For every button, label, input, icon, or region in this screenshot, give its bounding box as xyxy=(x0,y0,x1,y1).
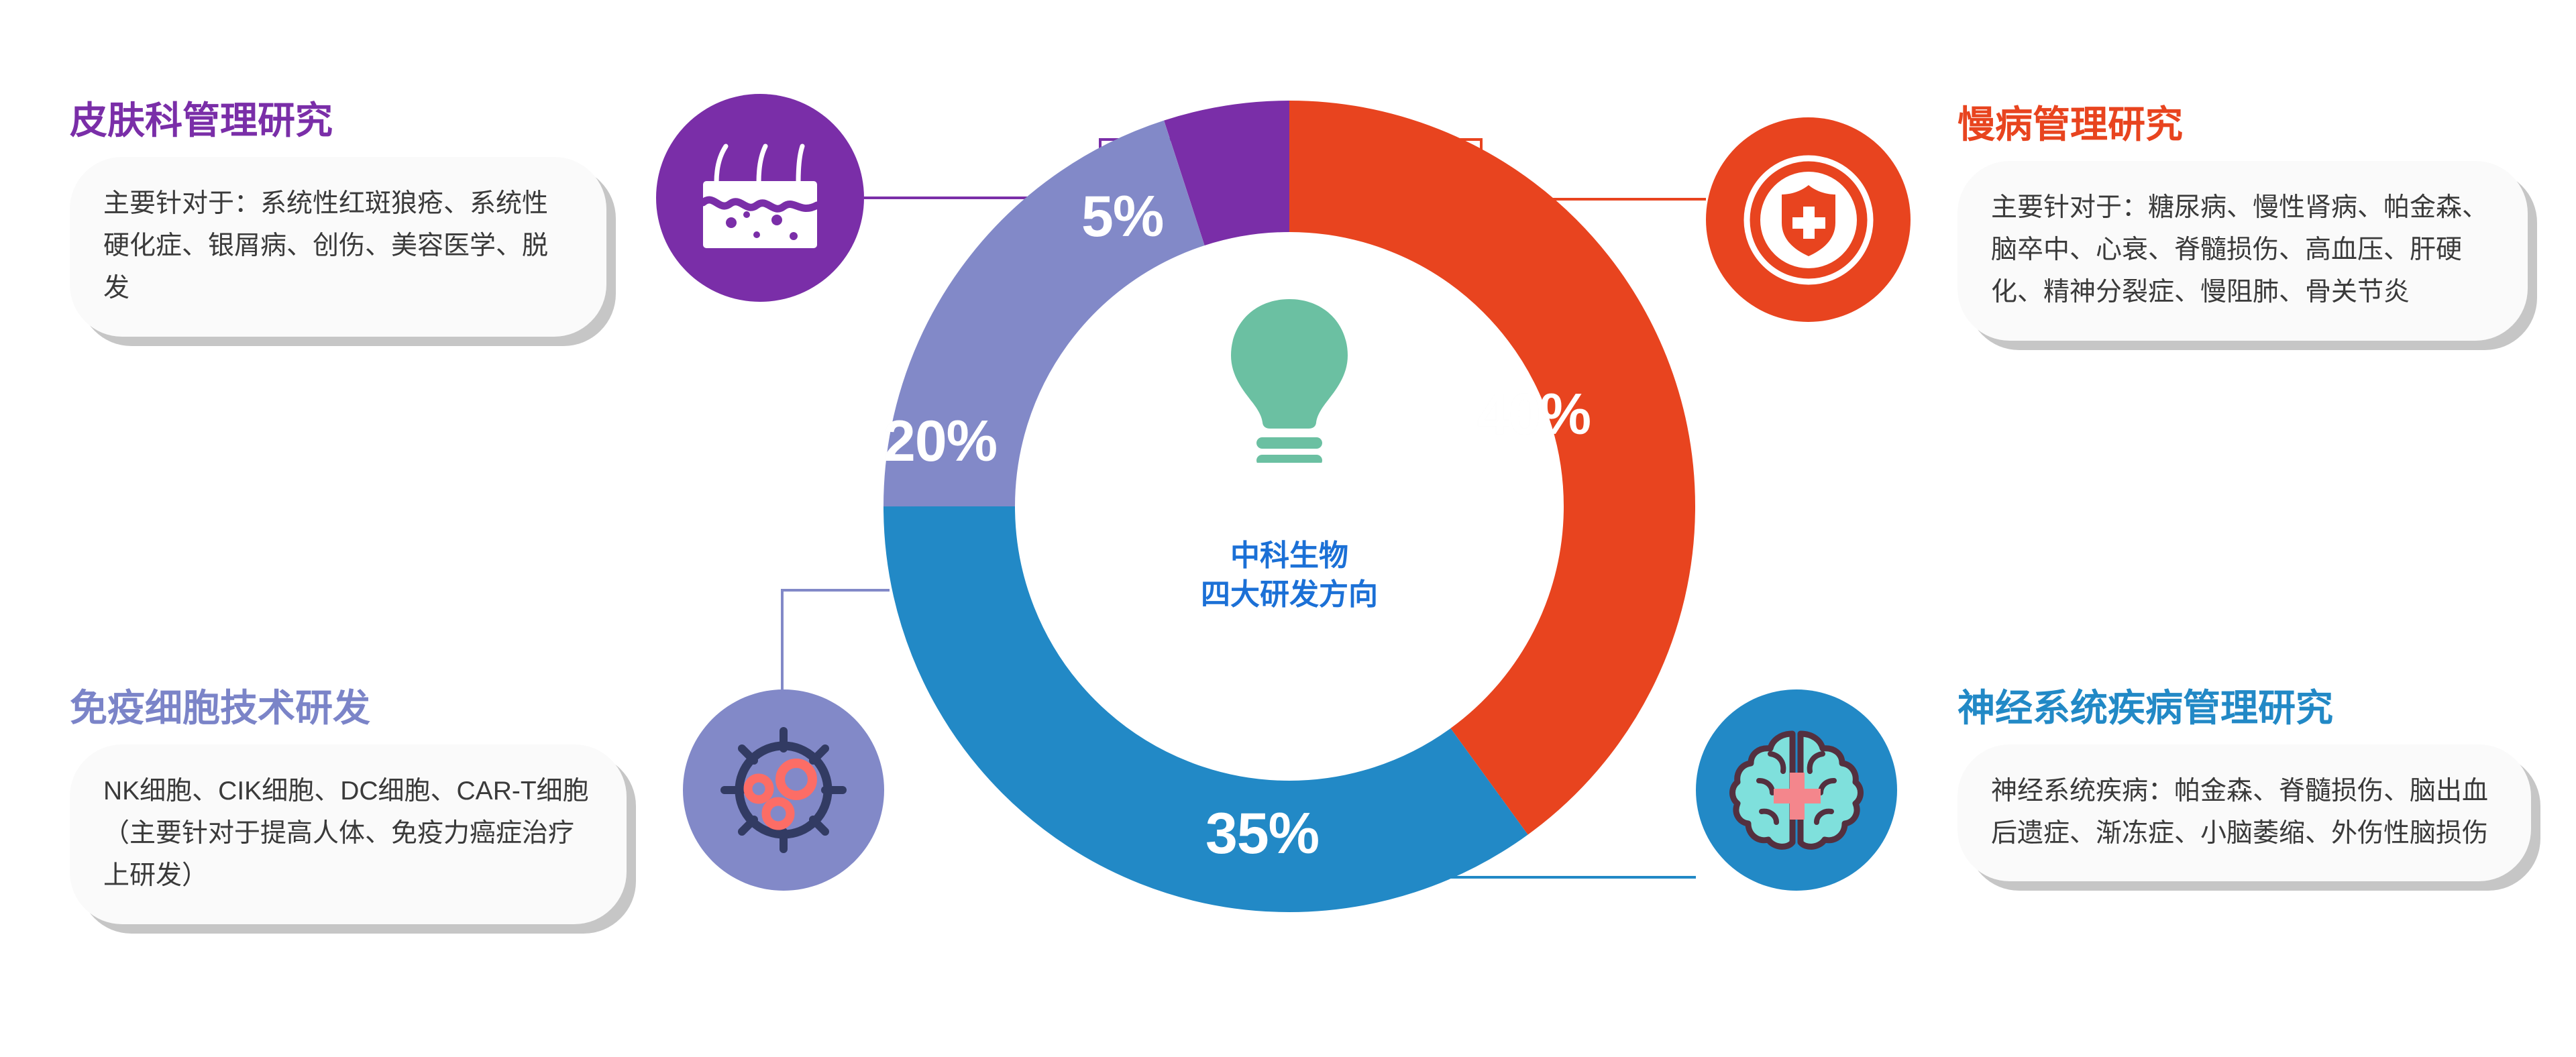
panel-title-neuro: 神经系统疾病管理研究 xyxy=(1957,689,2548,727)
panel-neuro: 神经系统疾病管理研究 神经系统疾病：帕金森、脊髓损伤、脑出血后遗症、渐冻症、小脑… xyxy=(1957,689,2548,881)
segment-label-neuro: 35% xyxy=(1205,805,1319,863)
panel-title-immune: 免疫细胞技术研发 xyxy=(70,689,640,727)
brain-cross-icon xyxy=(1728,723,1865,857)
segment-label-immune: 20% xyxy=(883,412,997,470)
icon-badge-chronic[interactable] xyxy=(1706,117,1911,322)
panel-skin: 皮肤科管理研究 主要针对于：系统性红斑狼疮、系统性硬化症、银屑病、创伤、美容医学… xyxy=(70,102,620,337)
donut-chart: 40% 35% 20% 5% 中科生物 四大研发方向 xyxy=(877,94,1702,919)
panel-title-skin: 皮肤科管理研究 xyxy=(70,102,620,140)
panel-body-chronic: 主要针对于：糖尿病、慢性肾病、帕金森、脑卒中、心衰、脊髓损伤、高血压、肝硬化、精… xyxy=(1991,186,2494,314)
icon-badge-neuro[interactable] xyxy=(1696,689,1897,891)
panel-body-bubble-chronic: 主要针对于：糖尿病、慢性肾病、帕金森、脑卒中、心衰、脊髓损伤、高血压、肝硬化、精… xyxy=(1957,161,2528,341)
lightbulb-icon xyxy=(1226,295,1353,463)
donut-svg xyxy=(877,94,1702,919)
panel-body-bubble-neuro: 神经系统疾病：帕金森、脊髓损伤、脑出血后遗症、渐冻症、小脑萎缩、外伤性脑损伤 xyxy=(1957,744,2531,881)
panel-body-neuro: 神经系统疾病：帕金森、脊髓损伤、脑出血后遗症、渐冻症、小脑萎缩、外伤性脑损伤 xyxy=(1991,770,2498,854)
panel-body-bubble-skin: 主要针对于：系统性红斑狼疮、系统性硬化症、银屑病、创伤、美容医学、脱发 xyxy=(70,157,606,337)
panel-chronic: 慢病管理研究 主要针对于：糖尿病、慢性肾病、帕金森、脑卒中、心衰、脊髓损伤、高血… xyxy=(1957,106,2534,341)
icon-badge-immune[interactable] xyxy=(683,689,884,891)
panel-body-bubble-immune: NK细胞、CIK细胞、DC细胞、CAR-T细胞（主要针对于提高人体、免疫力癌症治… xyxy=(70,744,627,924)
segment-label-chronic: 40% xyxy=(1477,386,1591,443)
panel-title-chronic: 慢病管理研究 xyxy=(1957,106,2534,144)
center-line-1: 中科生物 xyxy=(877,537,1702,575)
virus-cell-icon xyxy=(716,723,851,857)
connector-immune xyxy=(782,590,890,706)
center-line-2: 四大研发方向 xyxy=(877,575,1702,614)
infographic-canvas: 40% 35% 20% 5% 中科生物 四大研发方向 xyxy=(0,0,2576,1057)
shield-cross-icon xyxy=(1741,153,1876,287)
panel-body-skin: 主要针对于：系统性红斑狼疮、系统性硬化症、银屑病、创伤、美容医学、脱发 xyxy=(103,182,573,310)
chart-center-caption: 中科生物 四大研发方向 xyxy=(877,537,1702,614)
panel-immune: 免疫细胞技术研发 NK细胞、CIK细胞、DC细胞、CAR-T细胞（主要针对于提高… xyxy=(70,689,640,924)
skin-layers-icon xyxy=(696,141,824,255)
segment-label-skin: 5% xyxy=(1081,188,1163,245)
icon-badge-skin[interactable] xyxy=(656,94,864,302)
panel-body-immune: NK细胞、CIK细胞、DC细胞、CAR-T细胞（主要针对于提高人体、免疫力癌症治… xyxy=(103,770,593,897)
